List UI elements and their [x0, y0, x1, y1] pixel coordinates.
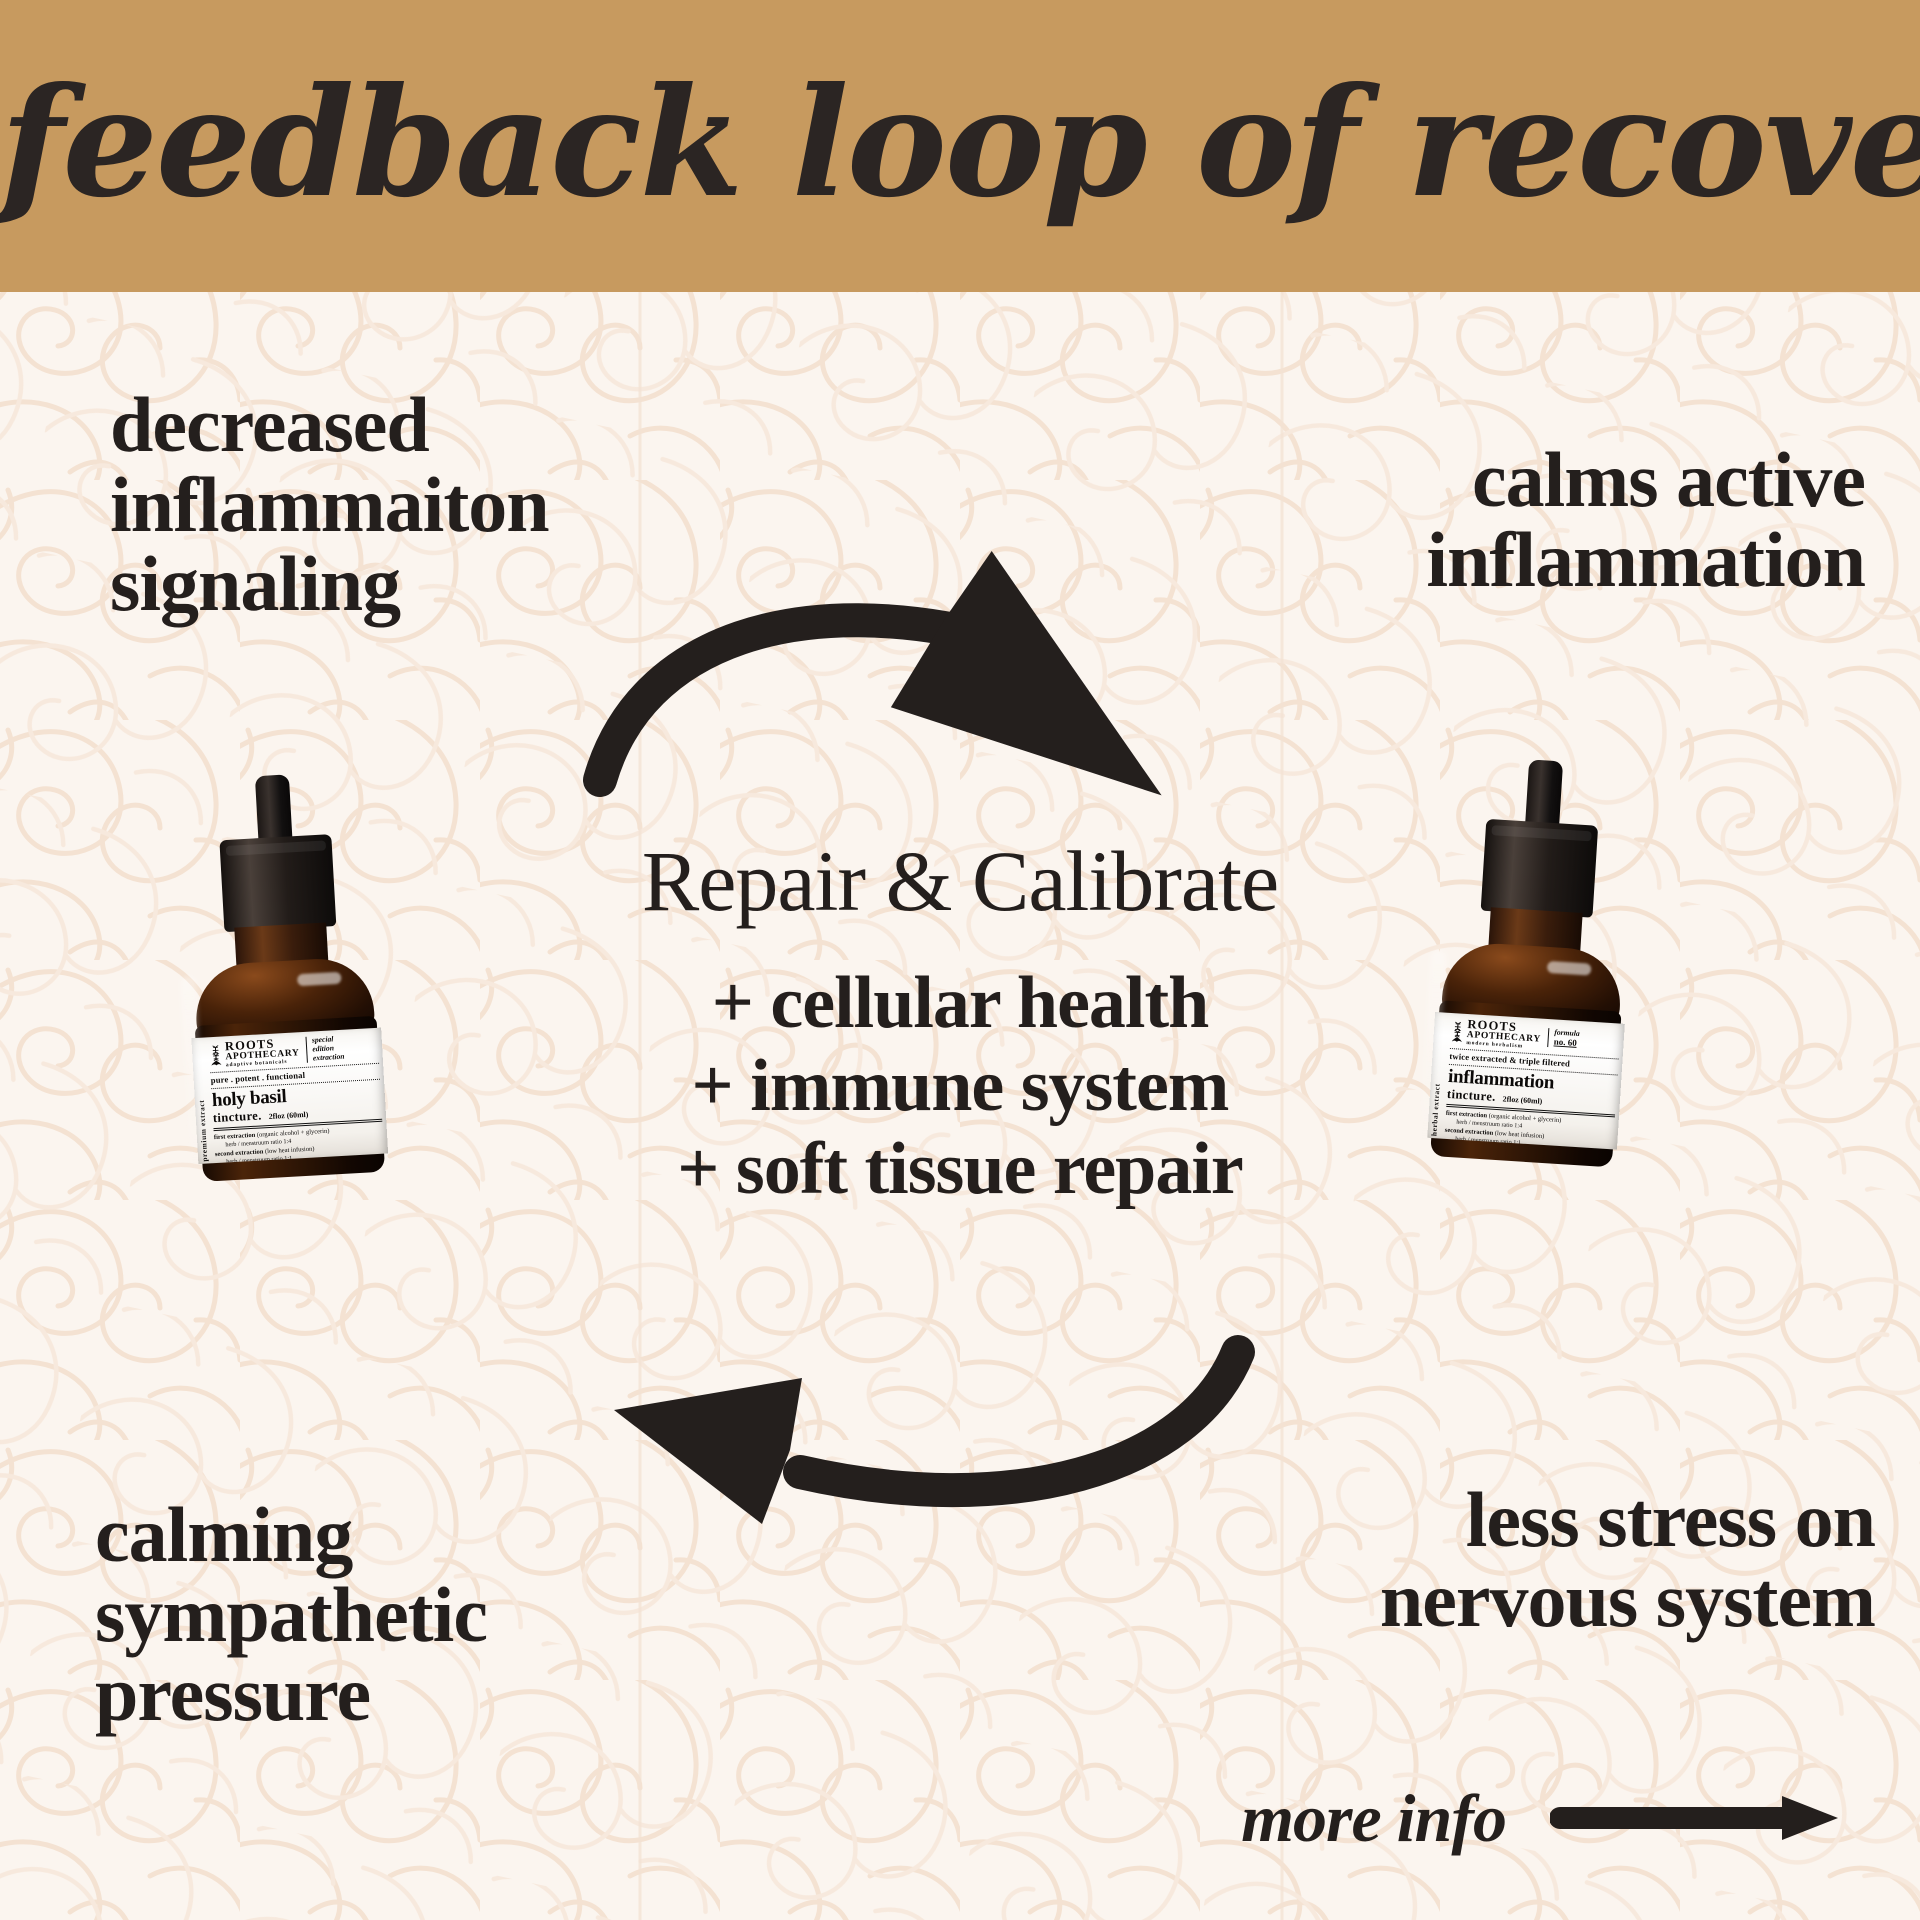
- product-volume: 2floz (60ml): [1502, 1095, 1542, 1106]
- node-line: inflammaiton: [110, 465, 730, 545]
- product-form: tincture.: [213, 1109, 263, 1127]
- node-line: calming: [95, 1495, 715, 1575]
- node-line: calms active: [1165, 440, 1865, 520]
- extraction-detail: (low heat infusion): [265, 1145, 315, 1155]
- more-info-cta[interactable]: more info: [1241, 1784, 1840, 1852]
- bottle-cap: [219, 834, 336, 932]
- page-title: feedback loop of recovery: [0, 68, 1920, 218]
- node-line: decreased: [110, 385, 730, 465]
- dna-root-icon: [209, 1044, 223, 1066]
- node-line: pressure: [95, 1654, 715, 1734]
- more-info-label: more info: [1241, 1784, 1506, 1852]
- formula-line: extraction: [313, 1052, 345, 1062]
- center-benefits-block: Repair & Calibrate + cellular health + i…: [510, 838, 1410, 1211]
- formula-badge: formula no. 60: [1547, 1028, 1579, 1049]
- bottle-cap: [1481, 819, 1599, 918]
- dna-root-icon: [1450, 1021, 1464, 1043]
- glass-highlight: [297, 972, 342, 986]
- bottle-label: premium extract: [191, 1028, 388, 1164]
- label-side-text: herbal extract: [1429, 1018, 1445, 1136]
- node-calms-active-inflammation: calms active inflammation: [1165, 440, 1865, 599]
- node-decreased-inflammation-signaling: decreased inflammaiton signaling: [110, 385, 730, 624]
- extraction-label: first extraction: [1446, 1110, 1488, 1120]
- center-heading: Repair & Calibrate: [510, 838, 1410, 924]
- product-bottle-inflammation[interactable]: herbal extract: [1405, 753, 1661, 1187]
- formula-number: no. 60: [1553, 1037, 1579, 1049]
- header-banner: feedback loop of recovery: [0, 0, 1920, 292]
- label-side-text: premium extract: [194, 1044, 210, 1162]
- benefit-item: + immune system: [510, 1045, 1410, 1128]
- formula-badge: special edition extraction: [306, 1035, 345, 1063]
- node-less-stress-on-nervous-system: less stress on nervous system: [1175, 1480, 1875, 1639]
- bottle-label: herbal extract: [1427, 1012, 1625, 1150]
- product-volume: 2floz (60ml): [269, 1110, 309, 1121]
- benefit-item: + soft tissue repair: [510, 1128, 1410, 1211]
- infographic-canvas: feedback loop of recovery decreased infl…: [0, 0, 1920, 1920]
- node-line: less stress on: [1175, 1480, 1875, 1560]
- product-bottle-holy-basil[interactable]: premium extract: [157, 769, 409, 1181]
- node-line: signaling: [110, 544, 730, 624]
- benefit-item: + cellular health: [510, 962, 1410, 1045]
- node-line: inflammation: [1165, 520, 1865, 600]
- product-form: tincture.: [1447, 1087, 1497, 1105]
- arrow-right-icon: [1550, 1791, 1840, 1845]
- node-line: nervous system: [1175, 1560, 1875, 1640]
- node-calming-sympathetic-pressure: calming sympathetic pressure: [95, 1495, 715, 1734]
- node-line: sympathetic: [95, 1575, 715, 1655]
